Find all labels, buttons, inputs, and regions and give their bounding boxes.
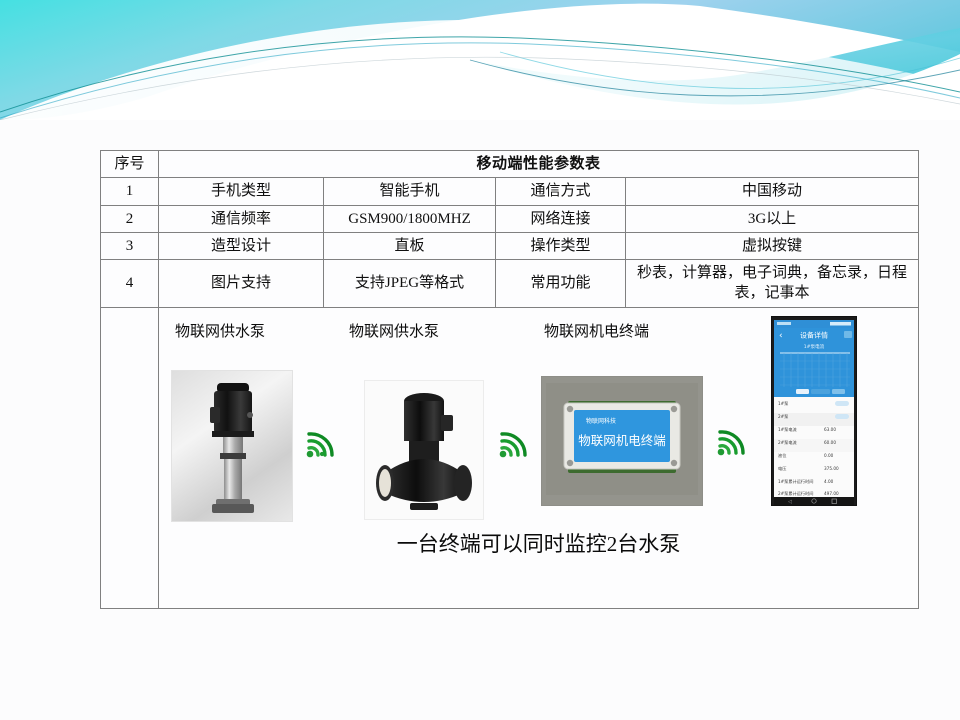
diagram-caption: 一台终端可以同时监控2台水泵 [159,530,918,558]
header-index-label: 序号 [101,151,159,178]
row-key-2: 通信方式 [496,178,626,205]
wifi-signal-icon [497,428,533,466]
row-number: 3 [101,232,159,259]
row-value-1: 智能手机 [324,178,496,205]
phone-list-value: 4.00 [824,479,834,484]
row-value-2: 中国移动 [626,178,919,205]
terminal-panel-text: 物联网机电终端 [578,433,666,448]
vertical-pump-illustration [172,371,292,521]
label-terminal: 物联网机电终端 [544,322,649,342]
wifi-signal-icon [304,428,340,466]
table-header-row: 序号 移动端性能参数表 [101,151,919,178]
row-key-1: 造型设计 [159,232,324,259]
phone-screenshot-illustration: ‹ 设备详情 1#泵电流 [772,317,856,505]
row-key-2: 常用功能 [496,260,626,308]
decorative-header-band [0,0,960,120]
diagram-row: 物联网供水泵 物联网供水泵 物联网机电终端 移动端显示 [101,307,919,608]
photo-inline-centrifugal-pump [364,380,484,520]
table-row: 4 图片支持 支持JPEG等格式 常用功能 秒表，计算器，电子词典，备忘录，日程… [101,260,919,308]
phone-list-label: 2#泵 [778,414,788,419]
terminal-brand-text: 物联网科技 [586,417,616,425]
phone-list-label: 电压 [778,465,786,472]
diagram-spacer-cell [101,307,159,608]
row-value-2: 3G以上 [626,205,919,232]
diagram-cell: 物联网供水泵 物联网供水泵 物联网机电终端 移动端显示 [159,307,919,608]
row-key-2: 操作类型 [496,232,626,259]
row-key-1: 手机类型 [159,178,324,205]
row-number: 4 [101,260,159,308]
phone-list-value: 63.00 [824,427,836,432]
mobile-parameter-table: 序号 移动端性能参数表 1 手机类型 智能手机 通信方式 中国移动 2 通信频率… [100,150,919,609]
row-key-2: 网络连接 [496,205,626,232]
photo-iot-terminal-device: 物联网科技 物联网机电终端 [541,376,703,506]
photo-mobile-app-screenshot: ‹ 设备详情 1#泵电流 [771,316,857,506]
android-back-icon: ◁ [788,499,792,505]
row-value-2: 秒表，计算器，电子词典，备忘录，日程表，记事本 [626,260,919,308]
wifi-signal-icon [715,426,751,464]
photo-vertical-multistage-pump [171,370,293,522]
label-pump-1: 物联网供水泵 [175,322,265,342]
phone-list-value: 375.00 [824,466,839,471]
phone-list-label: 液位 [778,452,786,459]
row-key-1: 图片支持 [159,260,324,308]
phone-list-label: 2#泵电流 [778,439,798,446]
phone-list-value: 60.00 [824,440,836,445]
table-row: 2 通信频率 GSM900/1800MHZ 网络连接 3G以上 [101,205,919,232]
row-value-1: 直板 [324,232,496,259]
row-value-1: GSM900/1800MHZ [324,205,496,232]
phone-list-label: 2#泵累计运行时间 [778,490,814,497]
phone-list-value: 0.00 [824,453,834,458]
row-value-1: 支持JPEG等格式 [324,260,496,308]
phone-list-label: 1#泵累计运行时间 [778,478,814,485]
row-number: 1 [101,178,159,205]
table-row: 1 手机类型 智能手机 通信方式 中国移动 [101,178,919,205]
row-number: 2 [101,205,159,232]
system-diagram: 物联网供水泵 物联网供水泵 物联网机电终端 移动端显示 [159,308,918,608]
phone-list-label: 1#泵电流 [778,426,798,433]
row-value-2: 虚拟按键 [626,232,919,259]
table-title: 移动端性能参数表 [159,151,919,178]
phone-chart-title: 1#泵电流 [804,343,825,350]
header-wave-graphic [0,0,960,120]
row-key-1: 通信频率 [159,205,324,232]
phone-list-label: 1#泵 [778,401,788,406]
label-pump-2: 物联网供水泵 [349,322,439,342]
phone-nav-title: 设备详情 [800,330,828,339]
iot-terminal-illustration: 物联网科技 物联网机电终端 [542,377,702,505]
phone-back-icon: ‹ [779,331,783,341]
table-row: 3 造型设计 直板 操作类型 虚拟按键 [101,232,919,259]
inline-pump-illustration [365,381,483,519]
phone-list-value: 497.00 [824,491,839,496]
